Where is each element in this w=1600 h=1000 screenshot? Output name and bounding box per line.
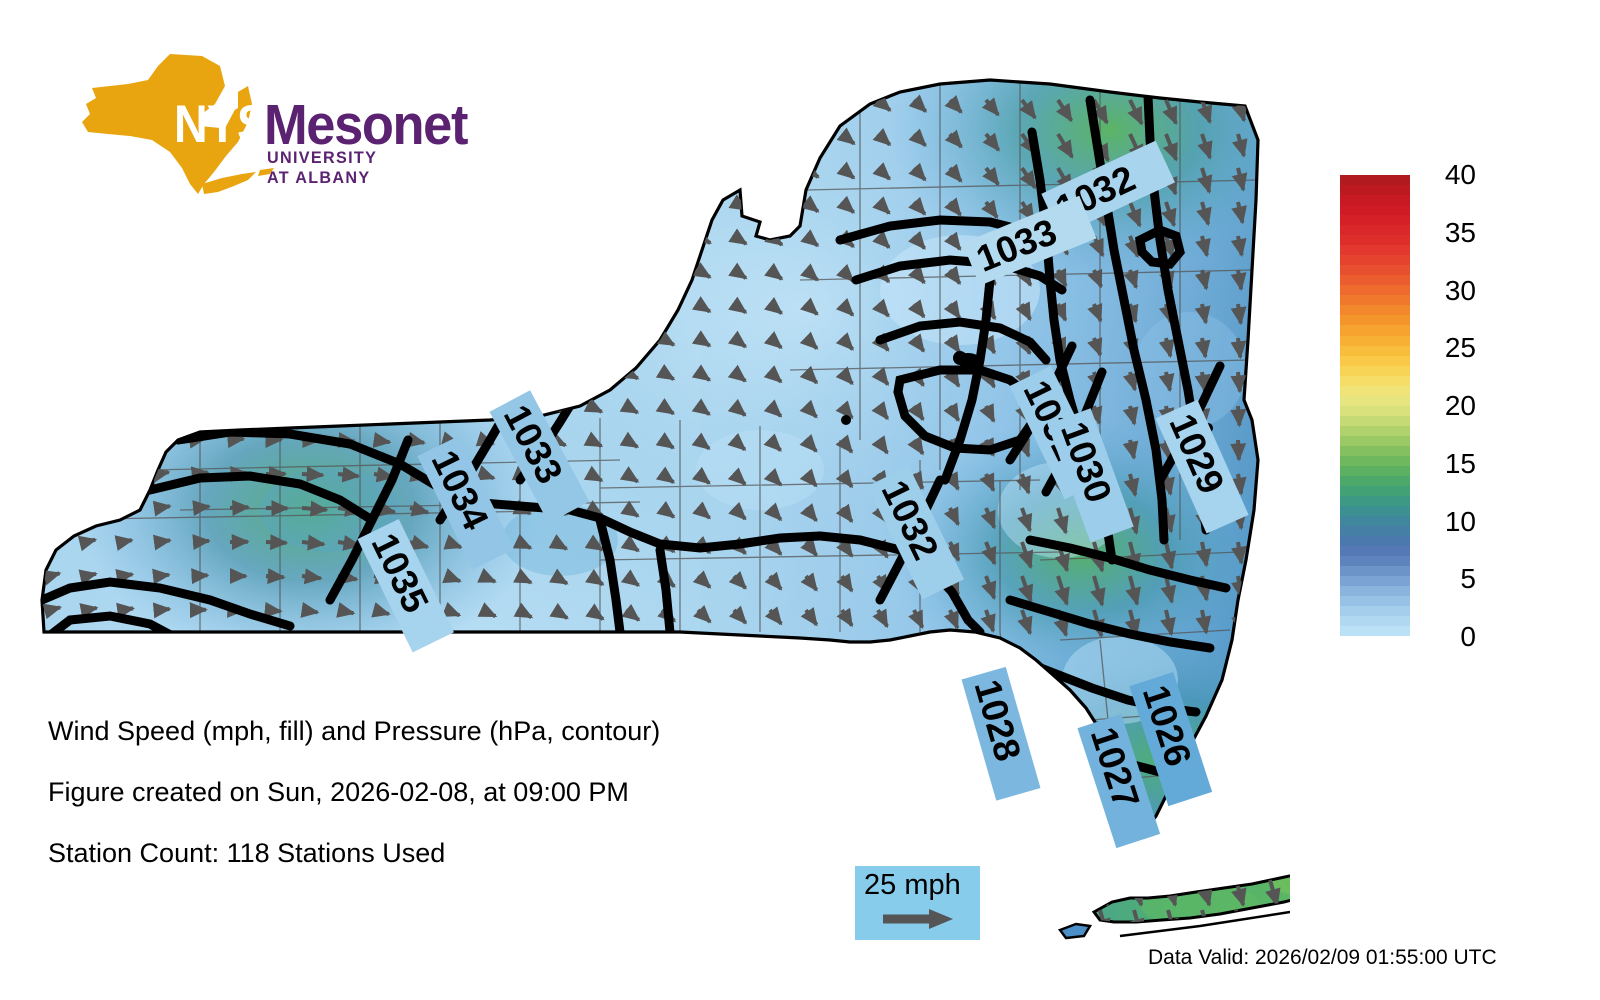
wind-arrow xyxy=(590,372,602,378)
wind-arrow xyxy=(86,472,94,474)
colorbar-band xyxy=(1340,356,1410,366)
wind-arrow xyxy=(338,406,351,407)
wind-arrow xyxy=(842,100,854,109)
wind-arrow xyxy=(50,164,56,168)
colorbar-tick: 5 xyxy=(1418,563,1476,595)
wind-arrow xyxy=(266,234,276,236)
wind-arrow xyxy=(86,130,93,134)
wind-arrow xyxy=(266,166,275,168)
colorbar-band xyxy=(1340,556,1410,566)
wind-arrow xyxy=(1238,406,1239,425)
wind-arrow xyxy=(302,132,312,134)
wind-arrow xyxy=(518,100,530,102)
wind-vector-key: 25 mph xyxy=(855,866,980,940)
colorbar-band xyxy=(1340,466,1410,476)
wind-arrow xyxy=(518,236,530,239)
wind-arrow xyxy=(50,96,56,100)
wind-arrow xyxy=(230,371,239,372)
wind-arrow xyxy=(1202,850,1209,875)
wind-arrow xyxy=(158,199,166,202)
colorbar-bands xyxy=(1340,175,1410,637)
wind-arrow xyxy=(482,338,494,341)
wind-arrow xyxy=(194,165,203,168)
wind-arrow xyxy=(446,236,457,237)
wind-arrow xyxy=(338,98,348,100)
wind-arrow xyxy=(122,130,129,134)
wind-arrow xyxy=(86,267,93,270)
colorbar-band xyxy=(1340,225,1410,235)
wind-arrow xyxy=(86,233,93,237)
wind-arrow xyxy=(590,270,602,275)
colorbar-band xyxy=(1340,346,1410,356)
wind-arrow xyxy=(770,100,783,108)
wind-arrow xyxy=(158,438,166,440)
wind-arrow xyxy=(770,168,782,176)
wind-arrow xyxy=(374,372,385,373)
wind-arrow xyxy=(302,508,327,510)
wind-arrow xyxy=(122,96,129,100)
colorbar-tick: 15 xyxy=(1418,448,1476,480)
wind-arrow xyxy=(1168,850,1175,875)
wind-arrow xyxy=(338,167,348,168)
wind-arrow xyxy=(626,202,638,207)
wind-arrow xyxy=(230,97,239,100)
wind-arrow xyxy=(698,168,711,174)
colorbar-band xyxy=(1340,536,1410,546)
colorbar-tick: 20 xyxy=(1418,390,1476,422)
colorbar-band xyxy=(1340,506,1410,516)
wind-arrow xyxy=(446,202,457,203)
wind-arrow xyxy=(410,372,421,374)
wind-arrow xyxy=(302,235,312,236)
wind-arrow xyxy=(482,304,494,307)
wind-arrow xyxy=(1100,880,1107,905)
wind-arrow xyxy=(374,406,386,408)
colorbar-band xyxy=(1340,586,1410,596)
wind-arrow xyxy=(50,437,57,440)
wind-arrow xyxy=(266,610,281,611)
wind-arrow xyxy=(410,304,421,305)
wind-arrow xyxy=(1100,850,1107,875)
wind-arrow xyxy=(338,474,358,476)
wind-arrow xyxy=(50,369,57,372)
wind-arrow xyxy=(518,168,530,170)
wind-arrow xyxy=(806,100,819,109)
colorbar-band xyxy=(1340,175,1410,185)
wind-arrow xyxy=(194,268,203,270)
wind-arrow xyxy=(698,134,711,140)
wind-arrow xyxy=(446,134,458,135)
windspeed-colorbar: 4035302520151050 xyxy=(1340,175,1410,637)
wind-arrow xyxy=(230,507,248,508)
wind-arrow xyxy=(266,371,276,372)
wind-arrow xyxy=(194,336,203,338)
windspeed-fill-long-island xyxy=(1080,830,1290,940)
wind-arrow xyxy=(302,269,312,270)
wind-arrow xyxy=(554,236,566,240)
wind-arrow xyxy=(554,100,566,102)
wind-arrow xyxy=(230,234,239,236)
wind-arrow xyxy=(194,199,203,202)
wind-arrow xyxy=(374,168,385,169)
wind-arrow xyxy=(554,270,566,274)
wind-arrow xyxy=(50,403,57,406)
wind-arrow xyxy=(158,165,166,168)
wind-arrow xyxy=(446,168,458,169)
wind-arrow xyxy=(230,337,239,339)
caption-title: Wind Speed (mph, fill) and Pressure (hPa… xyxy=(48,716,808,747)
wind-arrow xyxy=(554,134,566,137)
wind-arrow xyxy=(86,403,93,406)
wind-arrow xyxy=(374,133,385,134)
wind-arrow xyxy=(122,370,130,373)
weather-map-figure: NYS Mesonet UNIVERSITY AT ALBANY xyxy=(0,0,1600,1000)
wind-arrow xyxy=(122,267,130,270)
wind-arrow xyxy=(590,134,603,138)
colorbar-band xyxy=(1340,336,1410,346)
wind-arrow xyxy=(626,338,638,344)
colorbar-band xyxy=(1340,406,1410,416)
colorbar-band xyxy=(1340,416,1410,426)
wind-arrow xyxy=(662,236,674,242)
wind-arrow xyxy=(158,336,166,338)
wind-arrow xyxy=(302,542,324,544)
wind-arrow xyxy=(50,130,56,134)
wind-arrow xyxy=(50,607,60,610)
wind-arrow xyxy=(590,236,602,240)
wind-arrow xyxy=(86,335,93,338)
colorbar-band xyxy=(1340,305,1410,315)
wind-arrow xyxy=(698,100,711,106)
colorbar-band xyxy=(1340,576,1410,586)
wind-arrow xyxy=(50,301,57,304)
wind-arrow xyxy=(158,96,166,100)
wind-arrow xyxy=(410,236,421,237)
wind-arrow xyxy=(86,301,93,304)
wind-arrow xyxy=(122,335,130,338)
wind-arrow xyxy=(734,168,746,175)
wind-arrow xyxy=(302,576,321,578)
wind-arrow xyxy=(770,134,783,142)
colorbar-band xyxy=(1340,396,1410,406)
wind-arrow xyxy=(86,506,95,508)
wind-arrow xyxy=(482,236,494,238)
wind-arrow xyxy=(518,270,530,273)
wind-arrow xyxy=(158,575,169,576)
wind-arrow xyxy=(50,471,58,474)
wind-arrow xyxy=(266,200,276,202)
wind-arrow xyxy=(86,198,93,202)
colorbar-tick: 25 xyxy=(1418,332,1476,364)
wind-arrow xyxy=(230,166,239,169)
colorbar-band xyxy=(1340,606,1410,616)
wind-arrow xyxy=(626,134,639,138)
wind-arrow xyxy=(194,131,202,134)
wind-arrow xyxy=(122,233,130,236)
staten-island-outline xyxy=(1060,924,1090,938)
wind-arrow xyxy=(230,268,239,270)
wind-arrow xyxy=(410,406,421,408)
wind-arrow xyxy=(1238,610,1242,632)
wind-arrow xyxy=(158,472,169,474)
wind-arrow xyxy=(482,100,494,101)
wind-arrow xyxy=(518,202,530,205)
wind-arrow xyxy=(86,540,95,542)
wind-arrow xyxy=(122,301,130,304)
wind-arrow xyxy=(158,609,170,610)
wind-arrow xyxy=(446,406,457,409)
wind-arrow xyxy=(1238,338,1240,357)
wind-arrow xyxy=(770,202,782,210)
wind-arrow xyxy=(122,199,130,202)
wind-arrow xyxy=(122,574,132,576)
wind-arrow xyxy=(302,166,312,168)
wind-arrow xyxy=(1270,850,1277,875)
wind-arrow xyxy=(50,267,57,271)
wind-arrow xyxy=(806,134,818,143)
wind-arrow xyxy=(374,99,385,100)
wind-arrow xyxy=(158,302,166,305)
colorbar-tick: 30 xyxy=(1418,275,1476,307)
wind-arrow xyxy=(554,372,566,377)
wind-arrow xyxy=(50,573,60,576)
wind-arrow xyxy=(662,168,675,174)
wind-arrow xyxy=(338,133,348,134)
wind-arrow xyxy=(158,233,166,236)
wind-arrow xyxy=(482,134,494,135)
colorbar-band xyxy=(1340,255,1410,265)
colorbar-band xyxy=(1340,265,1410,275)
colorbar-band xyxy=(1340,456,1410,466)
wind-arrow xyxy=(662,134,675,139)
wind-arrow xyxy=(590,202,602,206)
wind-arrow xyxy=(194,97,202,100)
colorbar-band xyxy=(1340,366,1410,376)
wind-arrow xyxy=(446,304,457,306)
wind-arrow xyxy=(302,303,312,304)
colorbar-tick: 0 xyxy=(1418,621,1476,653)
wind-arrow xyxy=(86,369,93,372)
wind-key-label: 25 mph xyxy=(864,869,961,902)
wind-arrow xyxy=(590,168,602,172)
wind-arrow xyxy=(86,164,93,168)
wind-arrow xyxy=(266,132,275,134)
colorbar-tick-labels: 4035302520151050 xyxy=(1418,175,1508,637)
wind-arrow xyxy=(230,302,239,304)
wind-arrow xyxy=(194,507,209,509)
colorbar-band xyxy=(1340,596,1410,606)
wind-arrow xyxy=(266,337,276,338)
data-valid-timestamp: Data Valid: 2026/02/09 01:55:00 UTC xyxy=(1148,946,1497,970)
wind-arrow xyxy=(158,131,166,135)
wind-arrow xyxy=(266,542,286,543)
wind-arrow xyxy=(266,303,276,304)
wind-arrow xyxy=(482,406,493,409)
wind-arrow xyxy=(1238,304,1241,323)
wind-arrow xyxy=(230,439,244,440)
wind-arrow xyxy=(86,438,94,440)
colorbar-band xyxy=(1340,325,1410,335)
wind-arrow xyxy=(194,541,209,542)
wind-arrow xyxy=(194,370,203,372)
wind-arrow xyxy=(410,338,421,339)
wind-arrow xyxy=(86,608,97,610)
colorbar-band xyxy=(1340,315,1410,325)
wind-arrow xyxy=(1238,440,1239,460)
wind-arrow xyxy=(50,539,59,542)
wind-arrow xyxy=(302,610,318,612)
wind-arrow xyxy=(1238,372,1240,391)
wind-arrow xyxy=(86,574,96,576)
colorbar-band xyxy=(1340,185,1410,195)
colorbar-band xyxy=(1340,476,1410,486)
colorbar-band xyxy=(1340,195,1410,205)
wind-arrow xyxy=(590,338,602,343)
wind-arrow xyxy=(626,304,638,310)
wind-arrow xyxy=(158,506,170,508)
wind-arrow xyxy=(626,270,638,276)
colorbar-band xyxy=(1340,546,1410,556)
wind-arrow xyxy=(122,608,133,610)
wind-arrow xyxy=(446,338,457,340)
wind-arrow xyxy=(518,338,530,342)
wind-arrow xyxy=(554,304,566,308)
colorbar-band xyxy=(1340,205,1410,215)
wind-arrow xyxy=(86,96,93,100)
wind-arrow xyxy=(374,440,390,442)
wind-arrow xyxy=(518,372,530,376)
colorbar-band xyxy=(1340,295,1410,305)
colorbar-band xyxy=(1340,616,1410,626)
wind-arrow xyxy=(122,438,130,440)
colorbar-band xyxy=(1340,285,1410,295)
wind-arrow xyxy=(194,234,203,237)
wind-arrow xyxy=(1236,910,1243,935)
wind-arrow xyxy=(482,202,494,204)
wind-arrow xyxy=(230,131,239,134)
wind-arrow xyxy=(338,235,348,236)
wind-arrow xyxy=(446,372,457,374)
colorbar-tick: 40 xyxy=(1418,159,1476,191)
wind-arrow xyxy=(302,98,312,100)
wind-arrow xyxy=(338,201,348,202)
colorbar-band xyxy=(1340,486,1410,496)
wind-arrow xyxy=(446,270,457,272)
wind-arrow xyxy=(122,540,132,542)
wind-arrow xyxy=(158,540,170,542)
colorbar-band xyxy=(1340,275,1410,285)
wind-arrow xyxy=(590,304,602,309)
wind-arrow xyxy=(554,338,566,342)
wind-arrow xyxy=(1236,850,1243,875)
wind-arrow xyxy=(230,200,239,202)
colorbar-band xyxy=(1340,626,1410,636)
wind-arrow xyxy=(122,506,131,508)
wind-arrow xyxy=(194,302,203,304)
wind-arrow xyxy=(662,202,674,208)
wind-arrow xyxy=(50,505,58,508)
wind-arrow xyxy=(50,232,57,236)
wind-arrow xyxy=(734,100,747,107)
colorbar-band xyxy=(1340,566,1410,576)
wind-arrow xyxy=(626,236,638,241)
colorbar-tick: 35 xyxy=(1418,217,1476,249)
colorbar-band xyxy=(1340,235,1410,245)
wind-arrow xyxy=(122,472,131,474)
wind-arrow xyxy=(662,270,674,276)
wind-arrow xyxy=(374,338,385,339)
wind-arrow xyxy=(626,168,639,173)
wind-arrow xyxy=(158,370,166,372)
wind-arrow xyxy=(590,100,603,103)
wind-arrow xyxy=(158,404,166,406)
colorbar-tick: 10 xyxy=(1418,506,1476,538)
wind-arrow xyxy=(1134,850,1141,875)
colorbar-band xyxy=(1340,436,1410,446)
wind-arrow xyxy=(374,304,385,305)
wind-arrow xyxy=(734,134,747,141)
wind-arrow xyxy=(194,405,203,407)
wind-arrow xyxy=(302,201,312,202)
colorbar-band xyxy=(1340,426,1410,436)
colorbar-band xyxy=(1340,215,1410,225)
colorbar-band xyxy=(1340,446,1410,456)
colorbar-band xyxy=(1340,526,1410,536)
wind-arrow xyxy=(626,100,639,104)
wind-arrow xyxy=(698,202,710,209)
wind-arrow xyxy=(410,270,421,271)
figure-caption: Wind Speed (mph, fill) and Pressure (hPa… xyxy=(48,716,808,899)
wind-arrow xyxy=(266,576,284,577)
wind-arrow xyxy=(266,405,278,406)
wind-arrow xyxy=(266,98,275,101)
wind-arrow xyxy=(158,267,166,270)
wind-arrow xyxy=(266,269,276,270)
wind-arrow xyxy=(122,164,129,168)
wind-arrow xyxy=(554,202,566,205)
wind-arrow xyxy=(518,134,530,136)
wind-arrow xyxy=(662,100,675,105)
wind-arrow xyxy=(50,198,56,202)
caption-created: Figure created on Sun, 2026-02-08, at 09… xyxy=(48,777,808,808)
colorbar-band xyxy=(1340,386,1410,396)
colorbar-band xyxy=(1340,516,1410,526)
wind-arrow xyxy=(230,405,240,406)
wind-arrow xyxy=(662,304,674,311)
wind-arrow xyxy=(50,335,57,338)
colorbar-band xyxy=(1340,496,1410,506)
wind-arrow xyxy=(194,575,208,576)
colorbar-band xyxy=(1340,376,1410,386)
caption-stations: Station Count: 118 Stations Used xyxy=(48,838,808,869)
colorbar-band xyxy=(1340,245,1410,255)
wind-arrow xyxy=(482,168,494,170)
wind-arrow xyxy=(122,404,130,406)
wind-arrow xyxy=(482,270,494,272)
wind-key-arrow-icon xyxy=(881,906,959,932)
wind-arrow xyxy=(482,372,493,375)
wind-arrow xyxy=(518,304,530,307)
wind-arrow xyxy=(302,474,323,475)
wind-arrow xyxy=(554,168,566,171)
